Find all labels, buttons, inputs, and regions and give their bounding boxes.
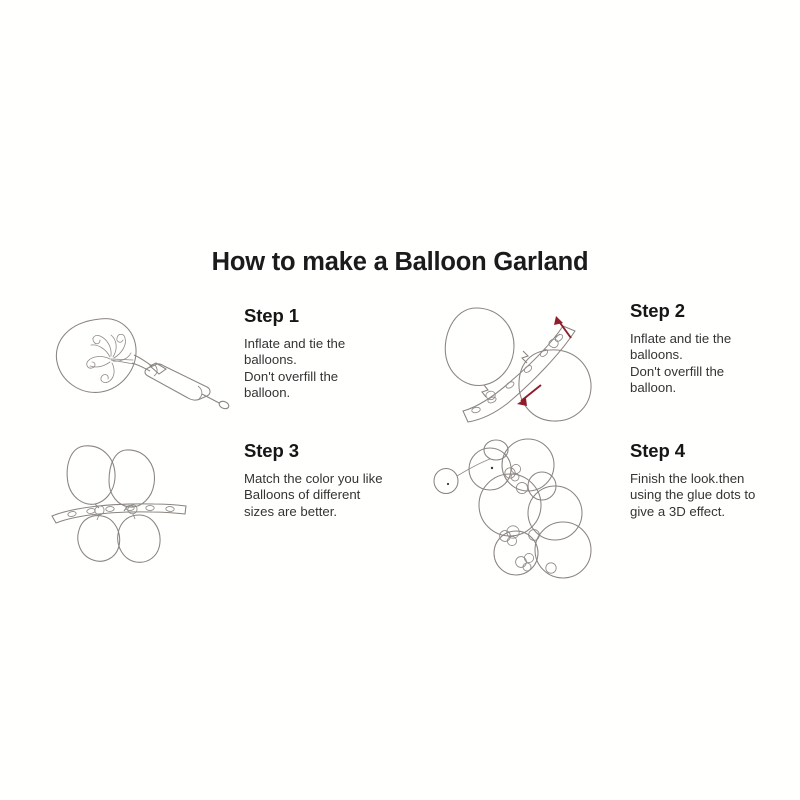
step-4-body: Finish the look.then using the glue dots… bbox=[630, 471, 800, 520]
step-1-body: Inflate and tie the balloons. Don't over… bbox=[244, 336, 419, 402]
step-1-illustration-balloon-with-hand-pump bbox=[44, 305, 230, 410]
step-2-heading: Step 2 bbox=[630, 300, 800, 322]
step-1-block: Step 1 Inflate and tie the balloons. Don… bbox=[44, 305, 419, 410]
step-4-heading: Step 4 bbox=[630, 440, 800, 462]
step-4-block: Step 4 Finish the look.then using the gl… bbox=[432, 440, 800, 570]
step-4-copy: Step 4 Finish the look.then using the gl… bbox=[630, 440, 800, 520]
instructional-poster: How to make a Balloon Garland bbox=[0, 0, 800, 800]
page-title: How to make a Balloon Garland bbox=[0, 248, 800, 277]
step-2-copy: Step 2 Inflate and tie the balloons. Don… bbox=[630, 300, 800, 397]
step-3-block: Step 3 Match the color you like Balloons… bbox=[44, 440, 419, 560]
step-3-illustration-four-balloon-cluster bbox=[44, 440, 230, 560]
step-2-block: Step 2 Inflate and tie the balloons. Don… bbox=[432, 300, 800, 425]
step-1-copy: Step 1 Inflate and tie the balloons. Don… bbox=[244, 305, 419, 402]
step-2-illustration-two-balloons-on-strip bbox=[432, 300, 614, 425]
step-3-copy: Step 3 Match the color you like Balloons… bbox=[244, 440, 419, 520]
step-3-heading: Step 3 bbox=[244, 440, 419, 462]
step-2-body: Inflate and tie the balloons. Don't over… bbox=[630, 331, 800, 397]
step-3-body: Match the color you like Balloons of dif… bbox=[244, 471, 419, 520]
step-4-illustration-finished-garland bbox=[432, 440, 614, 570]
step-1-heading: Step 1 bbox=[244, 305, 419, 327]
